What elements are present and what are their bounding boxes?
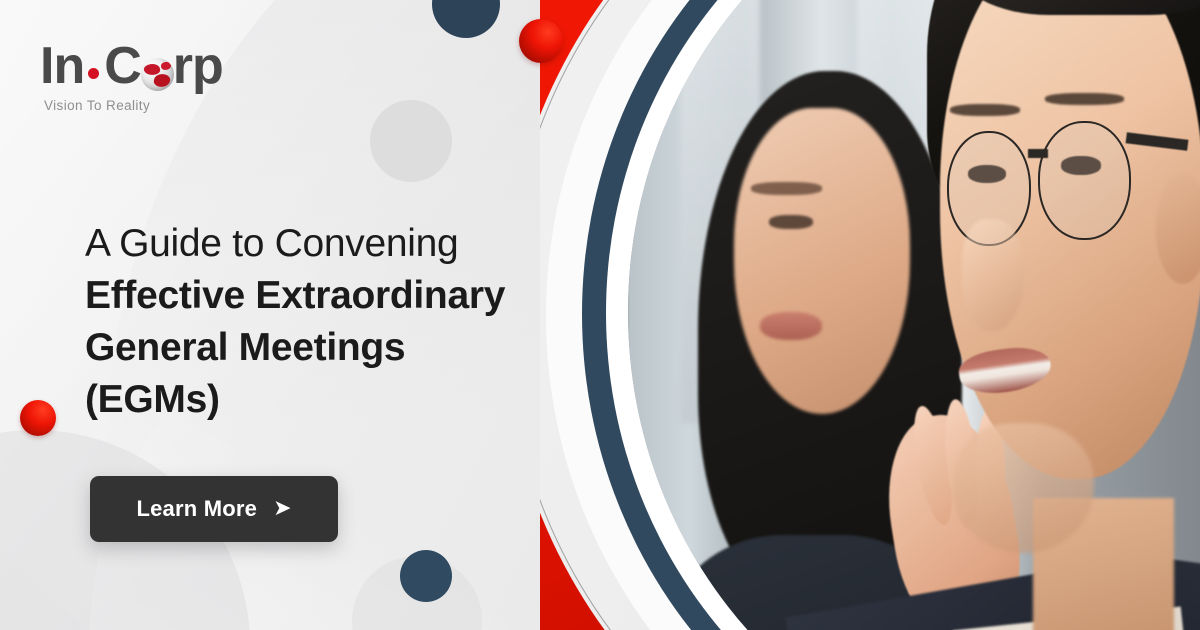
logo-wordmark: In C rp	[40, 40, 223, 92]
logo-text-c: C	[104, 40, 141, 92]
arrow-right-icon: ➤	[273, 497, 291, 519]
red-sphere-left	[20, 400, 56, 436]
photo-man-eyeglass-bridge	[1028, 149, 1047, 158]
learn-more-button[interactable]: Learn More ➤	[90, 476, 338, 542]
globe-icon	[141, 58, 174, 91]
navy-circle-bottom	[400, 550, 452, 602]
hero-photo	[628, 0, 1200, 630]
photo-man-brow-right	[1045, 93, 1124, 105]
photo-person-background-lips	[760, 312, 822, 340]
headline-line-2: Effective Extraordinary	[85, 270, 585, 322]
photo-person-background-eye	[769, 215, 813, 230]
photo-man-nose	[962, 219, 1024, 330]
marketing-banner: In C rp Vision To Reality A Guide to Con…	[0, 0, 1200, 630]
logo-text-rp: rp	[173, 40, 223, 92]
headline-line-3: General Meetings	[85, 322, 585, 374]
headline-line-1: A Guide to Convening	[85, 218, 585, 270]
globe-landmass-icon	[161, 62, 171, 70]
photo-person-background-face	[734, 108, 910, 414]
page-title: A Guide to Convening Effective Extraordi…	[85, 218, 585, 426]
brand-logo[interactable]: In C rp Vision To Reality	[40, 40, 223, 113]
photo-person-background-brow	[751, 182, 821, 195]
logo-tagline: Vision To Reality	[44, 98, 223, 113]
hero-artwork	[540, 0, 1200, 630]
headline-line-4: (EGMs)	[85, 374, 585, 426]
red-sphere-top	[519, 19, 563, 63]
photo-man-brow-left	[950, 104, 1020, 116]
red-dot-icon	[88, 68, 99, 79]
logo-text-in: In	[40, 40, 84, 92]
background-faint-circle-top	[370, 100, 452, 182]
navy-circle-top	[432, 0, 500, 38]
photo-man-ear	[1156, 173, 1200, 284]
photo-man-eyeglass-right	[1038, 121, 1131, 240]
learn-more-label: Learn More	[136, 496, 257, 522]
